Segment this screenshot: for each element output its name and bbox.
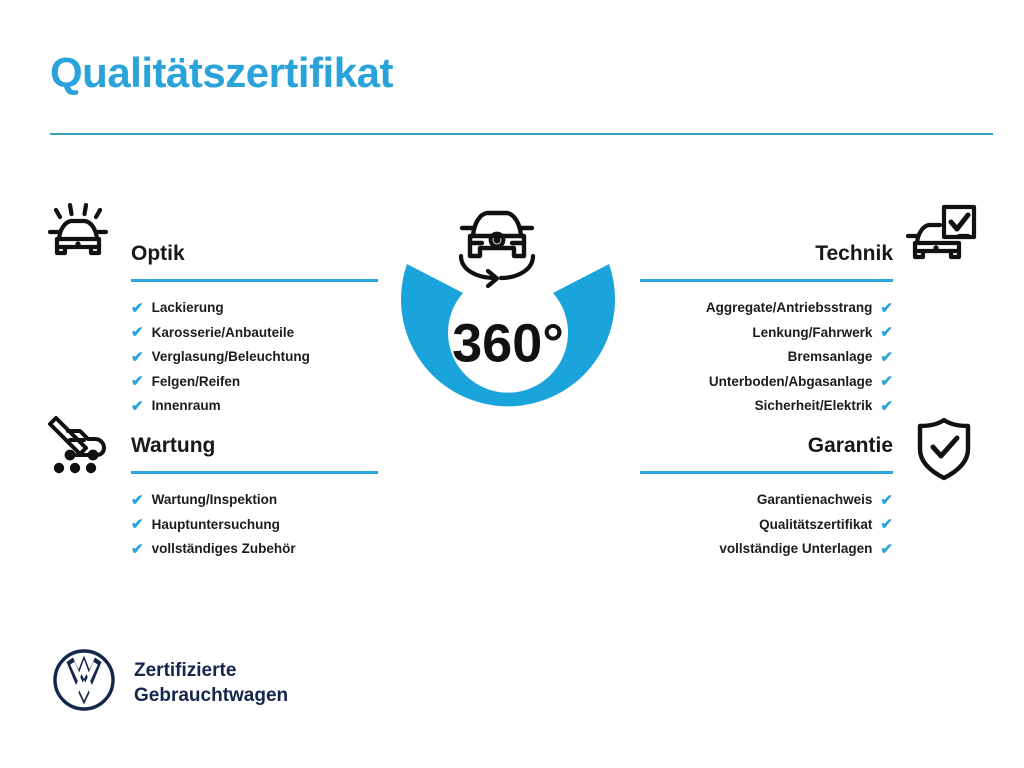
- section-technik: Technik Aggregate/Antriebsstrang✔ Lenkun…: [640, 240, 893, 419]
- list-item-label: Wartung/Inspektion: [152, 488, 278, 513]
- list-item-label: Verglasung/Beleuchtung: [152, 345, 310, 370]
- check-icon: ✔: [131, 493, 144, 508]
- car-front-rotate-icon: [461, 213, 533, 286]
- section-optik: Optik ✔Lackierung ✔Karosserie/Anbauteile…: [131, 240, 378, 419]
- list-item-label: vollständiges Zubehör: [152, 537, 296, 562]
- section-wartung: Wartung ✔Wartung/Inspektion ✔Hauptunters…: [131, 432, 378, 562]
- list-item-label: vollständige Unterlagen: [719, 537, 872, 562]
- list-item: ✔Karosserie/Anbauteile: [131, 321, 378, 346]
- list-item: Aggregate/Antriebsstrang✔: [640, 296, 893, 321]
- list-item-label: Qualitätszertifikat: [759, 513, 872, 538]
- list-item-label: Sicherheit/Elektrik: [755, 394, 873, 419]
- vw-logo-icon: [52, 648, 116, 717]
- section-header-technik: Technik: [640, 240, 893, 282]
- list-item: Bremsanlage✔: [640, 345, 893, 370]
- list-item-label: Lackierung: [152, 296, 224, 321]
- list-item-label: Innenraum: [152, 394, 221, 419]
- list-item: vollständige Unterlagen✔: [640, 537, 893, 562]
- list-item-label: Hauptuntersuchung: [152, 513, 280, 538]
- list-item: ✔Hauptuntersuchung: [131, 513, 378, 538]
- check-icon: ✔: [880, 325, 893, 340]
- checklist-optik: ✔Lackierung ✔Karosserie/Anbauteile ✔Verg…: [131, 296, 378, 419]
- section-title: Technik: [640, 240, 893, 268]
- car-front-checkbox-icon: [906, 203, 978, 276]
- section-garantie: Garantie Garantienachweis✔ Qualitätszert…: [640, 432, 893, 562]
- shield-check-icon: [915, 417, 973, 486]
- footer-text: Zertifizierte Gebrauchtwagen: [134, 658, 288, 708]
- section-header-wartung: Wartung: [131, 432, 378, 474]
- list-item: Qualitätszertifikat✔: [640, 513, 893, 538]
- list-item-label: Felgen/Reifen: [152, 370, 241, 395]
- section-title: Optik: [131, 240, 378, 268]
- badge-curved-label: Gebrauchtwagen-Check: [396, 360, 619, 461]
- list-item: ✔Verglasung/Beleuchtung: [131, 345, 378, 370]
- footer-line-1: Zertifizierte: [134, 658, 288, 683]
- checklist-garantie: Garantienachweis✔ Qualitätszertifikat✔ v…: [640, 488, 893, 562]
- car-front-shine-icon: [46, 203, 114, 276]
- check-icon: ✔: [131, 350, 144, 365]
- badge-center-label: 360°: [452, 313, 564, 373]
- list-item-label: Karosserie/Anbauteile: [152, 321, 295, 346]
- check-icon: ✔: [131, 374, 144, 389]
- list-item-label: Aggregate/Antriebsstrang: [706, 296, 873, 321]
- check-icon: ✔: [880, 374, 893, 389]
- car-service-wrench-icon: [46, 415, 114, 482]
- footer-logo: Zertifizierte Gebrauchtwagen: [52, 648, 288, 717]
- header-divider: [50, 133, 993, 135]
- check-icon: ✔: [880, 517, 893, 532]
- list-item: ✔Wartung/Inspektion: [131, 488, 378, 513]
- list-item: ✔Felgen/Reifen: [131, 370, 378, 395]
- section-underline: [131, 471, 378, 474]
- checklist-technik: Aggregate/Antriebsstrang✔ Lenkung/Fahrwe…: [640, 296, 893, 419]
- check-icon: ✔: [131, 399, 144, 414]
- check-icon: ✔: [880, 399, 893, 414]
- list-item-label: Unterboden/Abgasanlage: [709, 370, 873, 395]
- section-underline: [640, 471, 893, 474]
- check-icon: ✔: [880, 542, 893, 557]
- list-item: Lenkung/Fahrwerk✔: [640, 321, 893, 346]
- footer-line-2: Gebrauchtwagen: [134, 683, 288, 708]
- checklist-wartung: ✔Wartung/Inspektion ✔Hauptuntersuchung ✔…: [131, 488, 378, 562]
- check-icon: ✔: [880, 350, 893, 365]
- section-title: Garantie: [640, 432, 893, 460]
- list-item: Garantienachweis✔: [640, 488, 893, 513]
- list-item: ✔Innenraum: [131, 394, 378, 419]
- check-icon: ✔: [131, 301, 144, 316]
- section-title: Wartung: [131, 432, 378, 460]
- section-underline: [640, 279, 893, 282]
- check-icon: ✔: [131, 517, 144, 532]
- check-icon: ✔: [880, 493, 893, 508]
- check-icon: ✔: [131, 542, 144, 557]
- list-item: ✔Lackierung: [131, 296, 378, 321]
- list-item-label: Lenkung/Fahrwerk: [752, 321, 872, 346]
- check-icon: ✔: [131, 325, 144, 340]
- list-item: ✔vollständiges Zubehör: [131, 537, 378, 562]
- gebrauchtwagen-check-badge: Gebrauchtwagen-Check 360°: [363, 196, 653, 486]
- list-item: Unterboden/Abgasanlage✔: [640, 370, 893, 395]
- page-title: Qualitätszertifikat: [50, 50, 393, 96]
- list-item-label: Bremsanlage: [788, 345, 873, 370]
- list-item: Sicherheit/Elektrik✔: [640, 394, 893, 419]
- section-header-optik: Optik: [131, 240, 378, 282]
- section-underline: [131, 279, 378, 282]
- list-item-label: Garantienachweis: [757, 488, 873, 513]
- section-header-garantie: Garantie: [640, 432, 893, 474]
- check-icon: ✔: [880, 301, 893, 316]
